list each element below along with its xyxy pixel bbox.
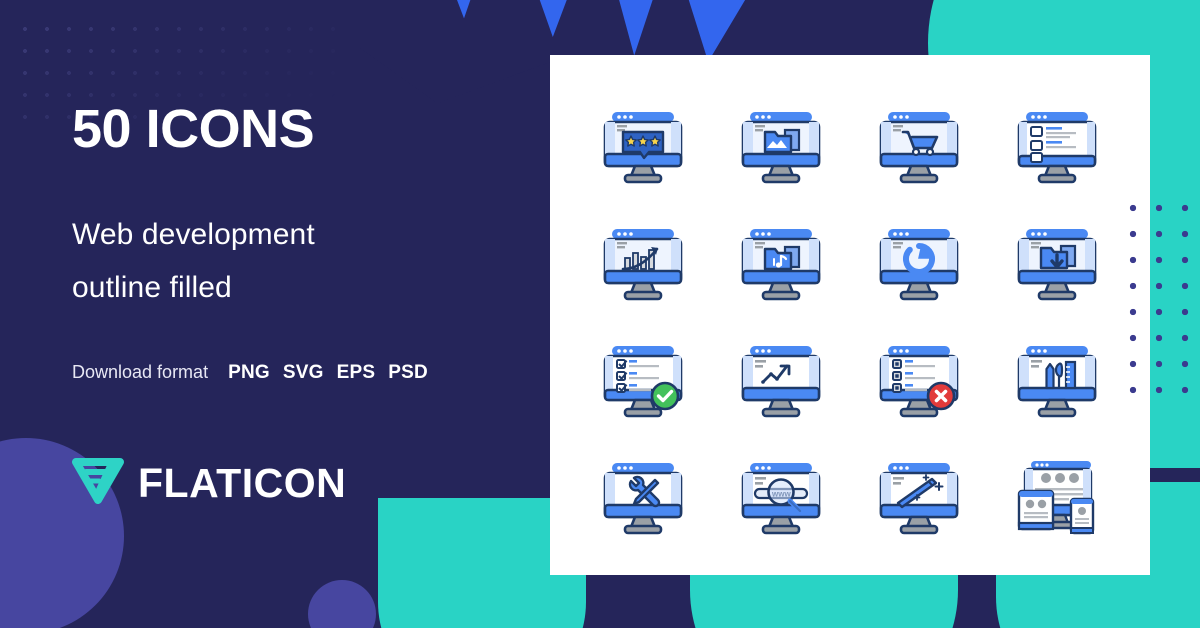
monitor-wrench-tools-icon [574, 434, 712, 551]
brand-name: FLATICON [138, 460, 346, 507]
icon-grid: www [574, 83, 1126, 551]
flaticon-logo-icon [72, 458, 124, 509]
format-svg: SVG [283, 362, 324, 384]
format-psd: PSD [388, 362, 428, 384]
monitor-growth-chart-icon [574, 200, 712, 317]
info-panel: 50 ICONS Web development outline filled … [72, 0, 542, 628]
download-format-label: Download format [72, 362, 208, 383]
monitor-download-folder-icon [988, 200, 1126, 317]
monitor-image-folder-icon [712, 83, 850, 200]
monitor-seo-search-icon: www [712, 434, 850, 551]
download-format-row: Download format PNG SVG EPS PSD [72, 362, 428, 384]
monitor-design-tools-icon [988, 317, 1126, 434]
monitor-checklist-error-icon [850, 317, 988, 434]
download-format-list: PNG SVG EPS PSD [228, 362, 428, 384]
monitor-checklist-success-icon [574, 317, 712, 434]
page-title: 50 ICONS [72, 102, 314, 156]
monitor-magic-wand-icon [850, 434, 988, 551]
subtitle-line-2: outline filled [72, 261, 315, 314]
monitor-shopping-cart-icon [850, 83, 988, 200]
monitor-line-chart-icon [712, 317, 850, 434]
icon-preview-card: www [550, 55, 1150, 575]
promo-banner: 50 ICONS Web development outline filled … [0, 0, 1200, 628]
page-subtitle: Web development outline filled [72, 208, 315, 315]
monitor-pie-chart-icon [850, 200, 988, 317]
monitor-music-folder-icon [712, 200, 850, 317]
subtitle-line-1: Web development [72, 208, 315, 261]
monitor-rating-stars-icon [574, 83, 712, 200]
responsive-devices-icon [988, 434, 1126, 551]
brand-lockup: FLATICON [72, 458, 346, 509]
format-png: PNG [228, 362, 270, 384]
format-eps: EPS [337, 362, 376, 384]
monitor-article-list-icon [988, 83, 1126, 200]
